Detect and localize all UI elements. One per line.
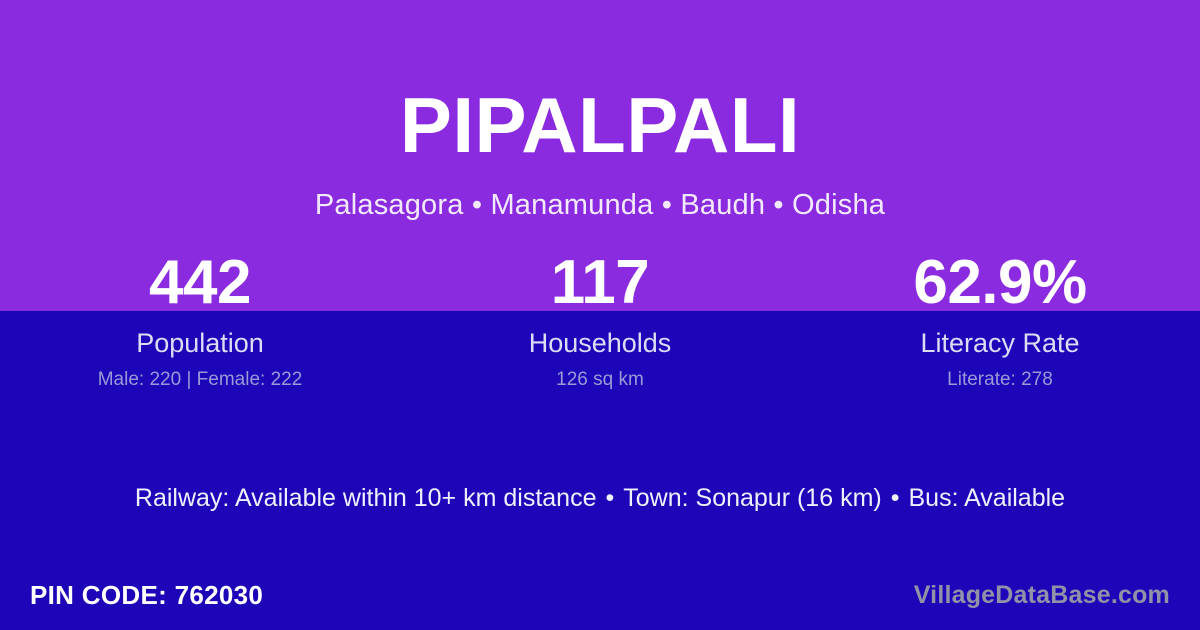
amenity-separator: •: [597, 486, 624, 511]
card-header: PIPALPALI Palasagora • Manamunda • Baudh…: [0, 0, 1200, 220]
stat-label: Literacy Rate: [800, 330, 1200, 357]
amenity-separator: •: [882, 486, 909, 511]
stat-sublabel: 126 sq km: [400, 370, 800, 389]
stat-households: 117 Households 126 sq km: [400, 252, 800, 389]
amenities-row: Railway: Available within 10+ km distanc…: [0, 486, 1200, 511]
stat-label: Population: [0, 330, 400, 357]
amenity-railway: Railway: Available within 10+ km distanc…: [135, 484, 597, 512]
stat-sublabel: Literate: 278: [800, 370, 1200, 389]
stats-row: 442 Population Male: 220 | Female: 222 1…: [0, 252, 1200, 389]
amenity-town: Town: Sonapur (16 km): [623, 484, 881, 512]
site-brand: VillageDataBase.com: [914, 583, 1170, 608]
page-title: PIPALPALI: [0, 86, 1200, 164]
village-info-card: PIPALPALI Palasagora • Manamunda • Baudh…: [0, 0, 1200, 630]
stat-population: 442 Population Male: 220 | Female: 222: [0, 252, 400, 389]
stat-value: 442: [0, 252, 400, 314]
pin-code: PIN CODE: 762030: [30, 582, 263, 608]
stat-value: 117: [400, 252, 800, 314]
stat-label: Households: [400, 330, 800, 357]
stat-literacy-rate: 62.9% Literacy Rate Literate: 278: [800, 252, 1200, 389]
stat-value: 62.9%: [800, 252, 1200, 314]
card-footer: PIN CODE: 762030 VillageDataBase.com: [0, 560, 1200, 630]
stat-sublabel: Male: 220 | Female: 222: [0, 370, 400, 389]
amenity-bus: Bus: Available: [908, 484, 1065, 512]
breadcrumb: Palasagora • Manamunda • Baudh • Odisha: [0, 191, 1200, 220]
